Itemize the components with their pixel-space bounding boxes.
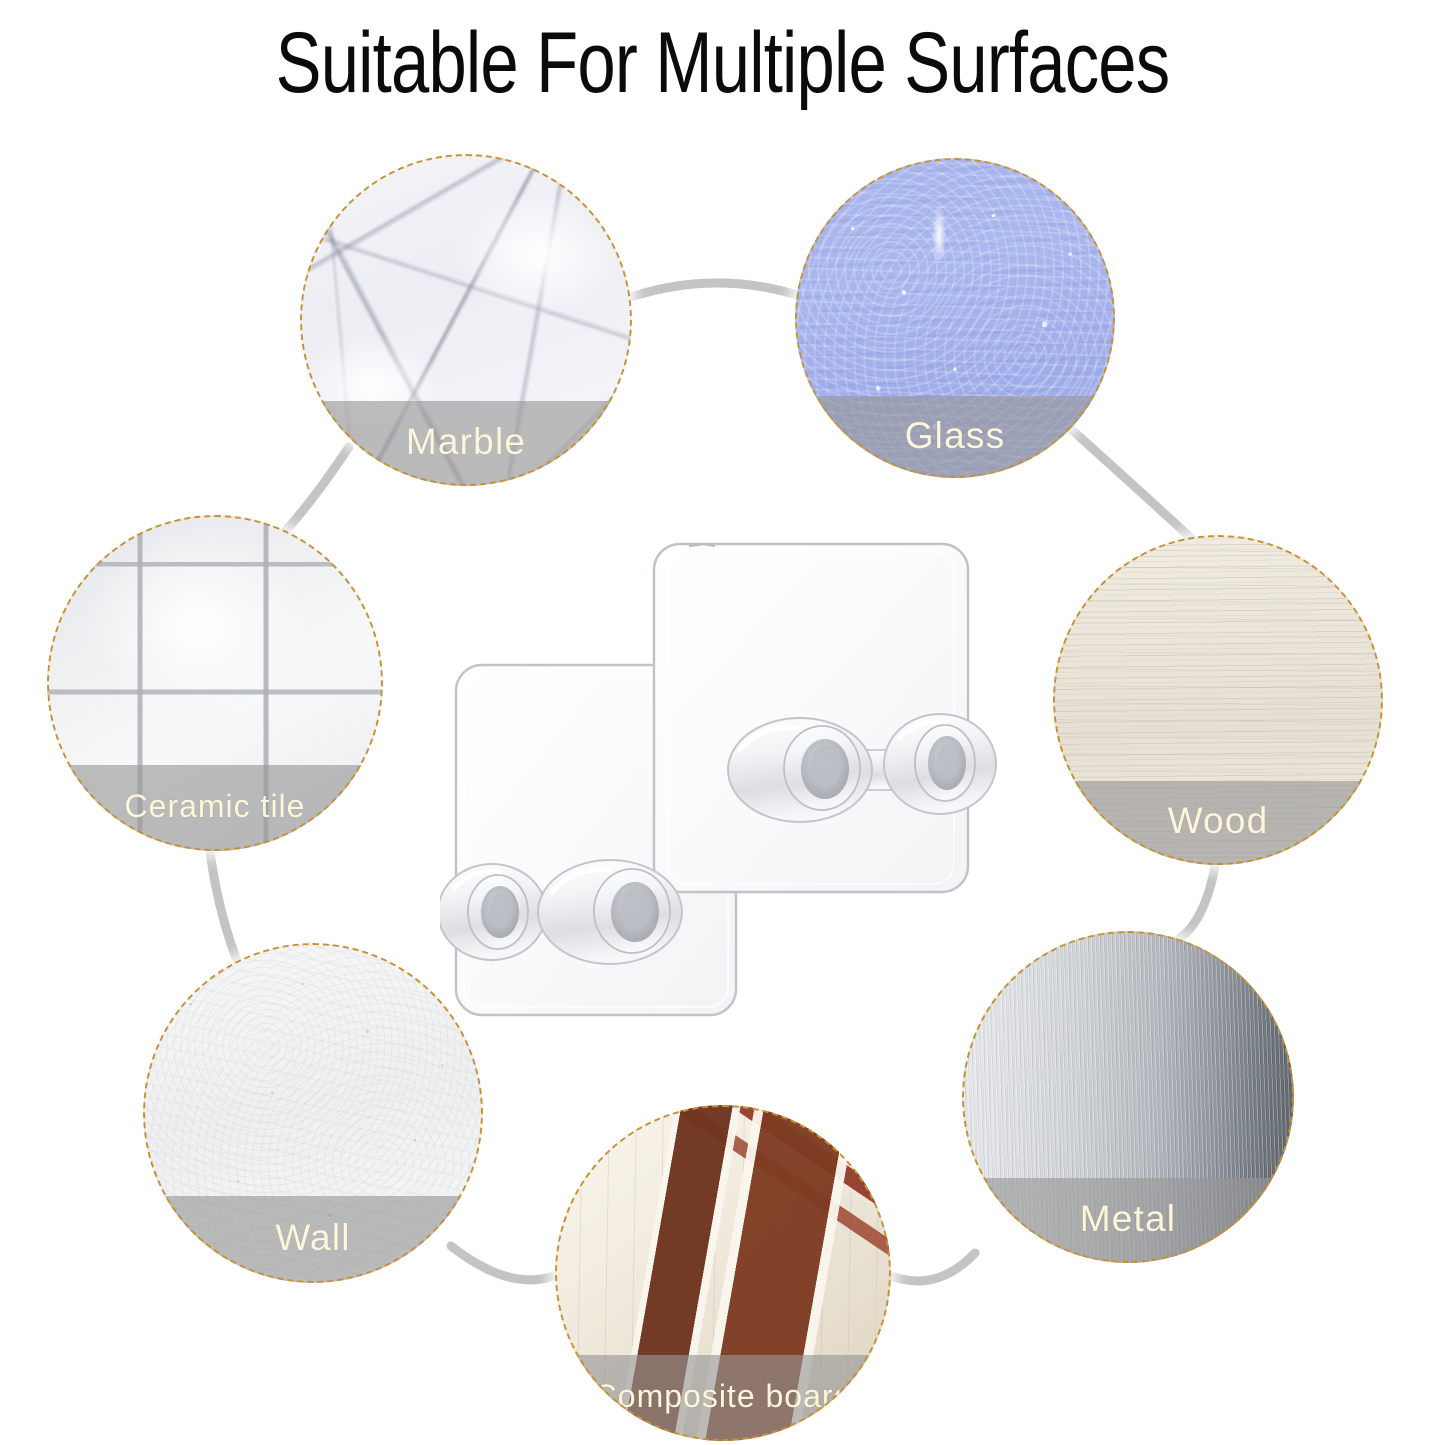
connector-ceramic-wall xyxy=(210,852,236,958)
hook-mount-left xyxy=(440,860,682,964)
surface-circle-marble[interactable]: Marble xyxy=(300,154,632,486)
surface-label-marble: Marble xyxy=(406,423,526,460)
surface-label-wall: Wall xyxy=(275,1219,350,1256)
surface-circle-metal[interactable]: Metal xyxy=(962,931,1294,1263)
label-band-glass: Glass xyxy=(795,396,1115,478)
surface-circle-glass[interactable]: Glass xyxy=(795,158,1115,478)
connector-marble-glass xyxy=(622,283,800,300)
surface-circle-ceramic-tile[interactable]: Ceramic tile xyxy=(47,515,383,851)
surface-label-wood: Wood xyxy=(1168,802,1269,839)
label-band-wood: Wood xyxy=(1053,781,1383,865)
surface-circle-wood[interactable]: Wood xyxy=(1053,535,1383,865)
label-band-composite-board: Composite board xyxy=(555,1355,891,1441)
surface-label-ceramic-tile: Ceramic tile xyxy=(125,790,306,822)
label-band-metal: Metal xyxy=(962,1178,1294,1263)
surface-circle-composite-board[interactable]: Composite board xyxy=(555,1105,891,1441)
surface-label-glass: Glass xyxy=(905,417,1006,454)
surface-label-composite-board: Composite board xyxy=(594,1380,853,1412)
surface-label-metal: Metal xyxy=(1080,1200,1176,1237)
label-band-marble: Marble xyxy=(300,401,632,486)
surface-circle-wall[interactable]: Wall xyxy=(143,943,483,1283)
label-band-ceramic-tile: Ceramic tile xyxy=(47,765,383,851)
product-image-adhesive-hooks xyxy=(440,520,1000,1040)
infographic-root: Suitable For Multiple Surfaces Marble Gl… xyxy=(0,0,1445,1445)
connector-wood-metal xyxy=(1180,866,1215,938)
adhesive-hooks-illustration xyxy=(440,520,1000,1040)
label-band-wall: Wall xyxy=(143,1196,483,1283)
